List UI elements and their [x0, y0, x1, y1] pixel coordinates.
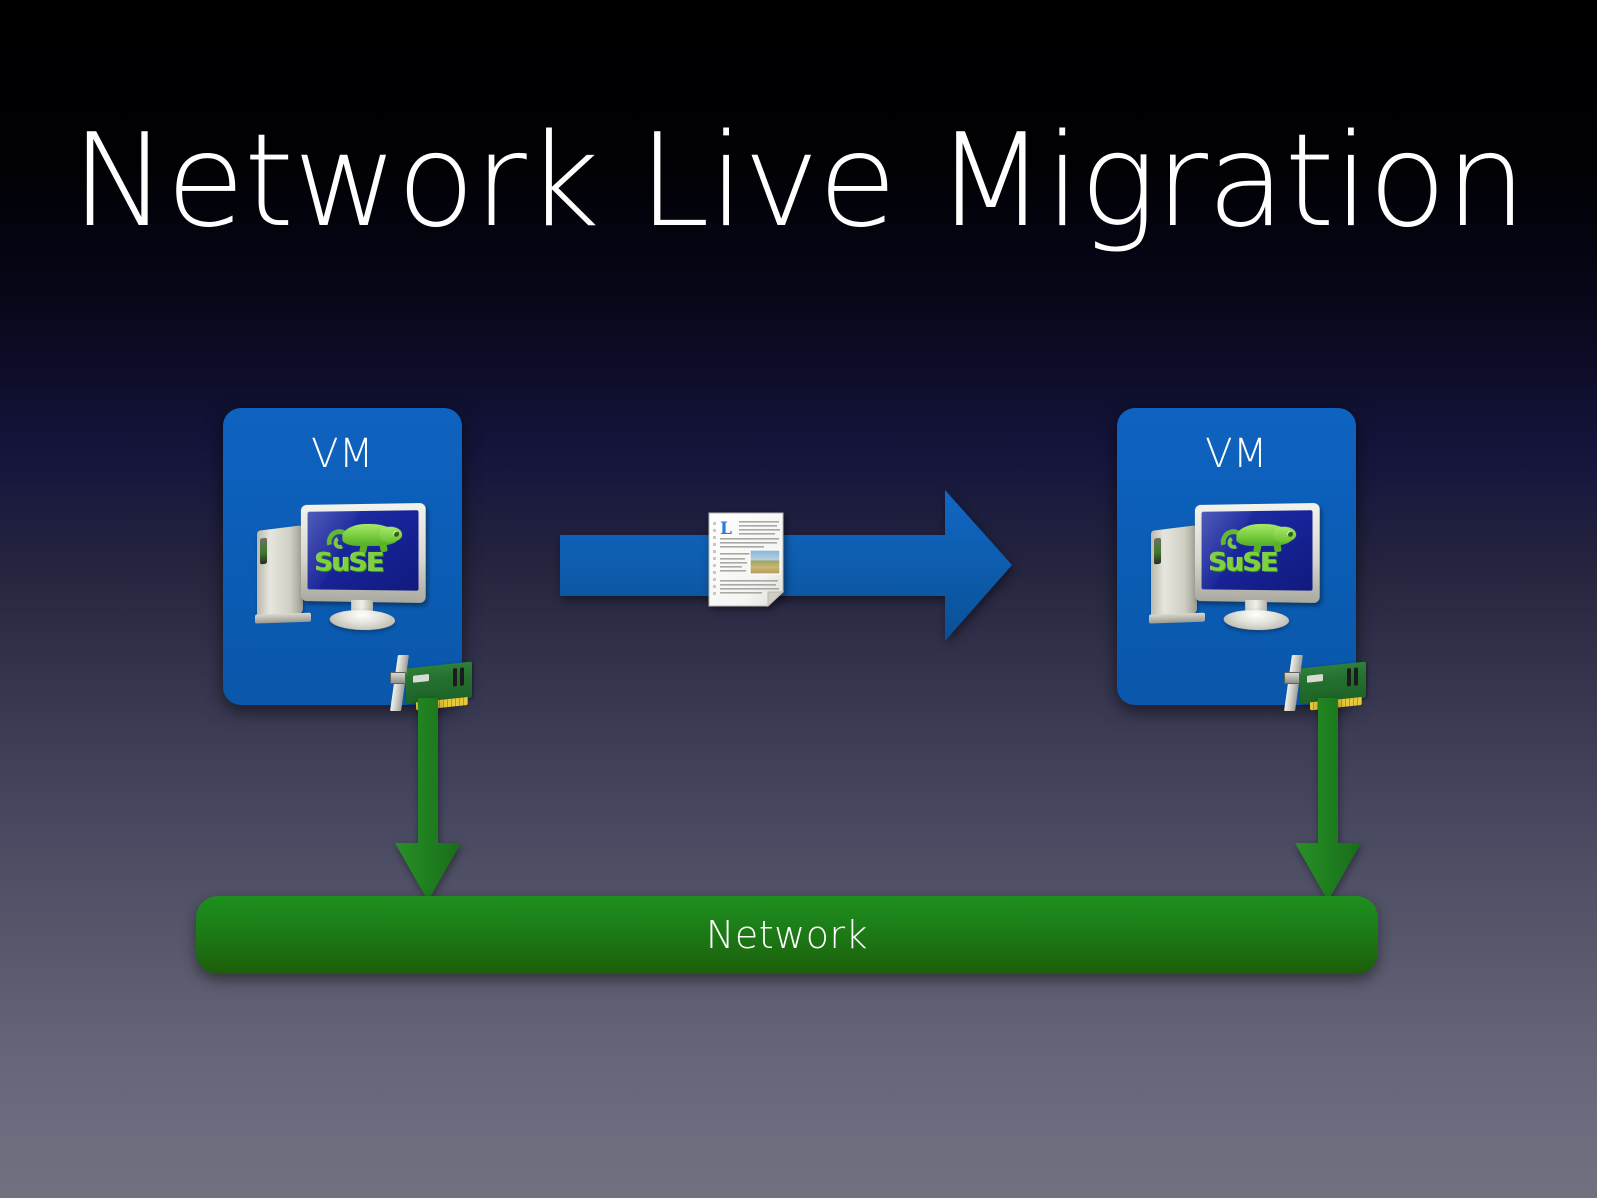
suse-computer-icon: SuSE	[1145, 500, 1330, 635]
page-title: Network Live Migration	[0, 115, 1597, 249]
monitor-stand-base	[1224, 609, 1289, 630]
suse-computer-icon: SuSE	[251, 500, 436, 635]
document-icon: L	[708, 512, 784, 607]
migration-arrow-icon	[560, 488, 1012, 643]
source-vm-label: VM	[223, 434, 462, 474]
monitor: SuSE	[301, 503, 426, 603]
target-uplink-arrow-icon	[1293, 698, 1363, 903]
suse-wordmark: SuSE	[315, 550, 418, 577]
source-vm-box[interactable]: VM SuSE	[223, 408, 462, 705]
svg-text:L: L	[720, 519, 732, 539]
network-bar[interactable]: Network	[196, 896, 1378, 974]
source-uplink-arrow-icon	[393, 698, 463, 903]
suse-wordmark: SuSE	[1209, 550, 1312, 577]
slide: Network Live Migration VM SuSE	[0, 0, 1597, 1198]
monitor-stand-base	[330, 609, 395, 630]
tower-case	[1151, 525, 1197, 619]
target-vm-box[interactable]: VM SuSE	[1117, 408, 1356, 705]
target-vm-label: VM	[1117, 434, 1356, 474]
monitor-screen: SuSE	[1202, 510, 1313, 590]
tower-case	[257, 525, 303, 619]
monitor-screen: SuSE	[308, 510, 419, 590]
network-bar-label: Network	[706, 916, 868, 954]
monitor: SuSE	[1195, 503, 1320, 603]
